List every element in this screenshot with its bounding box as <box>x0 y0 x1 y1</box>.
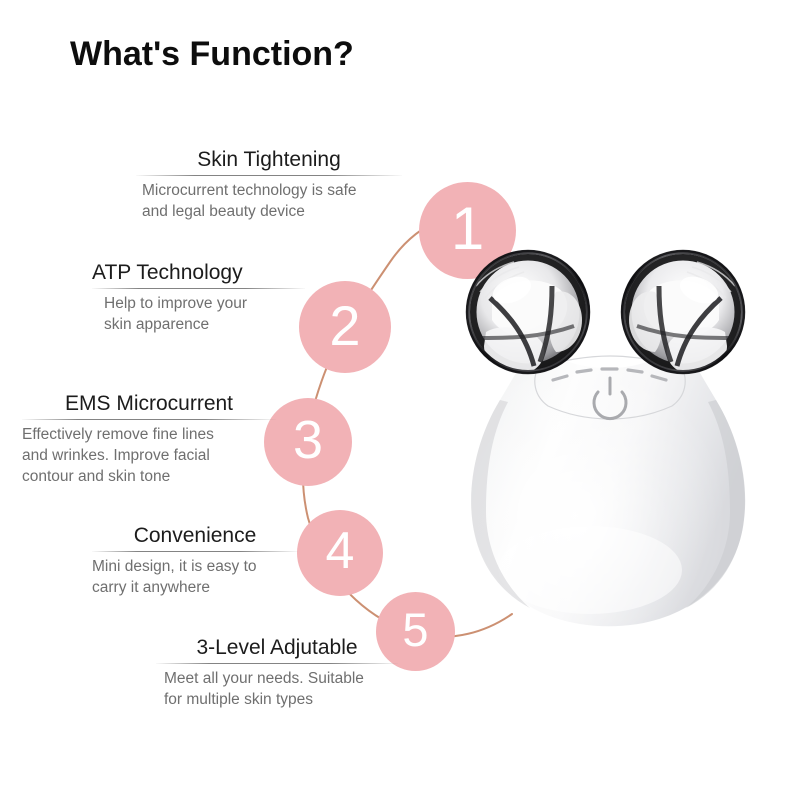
feature-block-convenience: Convenience Mini design, it is easy to c… <box>92 524 298 599</box>
feature-block-atp-technology: ATP Technology Help to improve your skin… <box>92 261 305 336</box>
feature-body-1: Microcurrent technology is safe and lega… <box>136 181 402 223</box>
page-title: What's Function? <box>70 35 354 74</box>
feature-number-5-label: 5 <box>402 602 428 657</box>
feature-divider-5 <box>156 663 398 664</box>
feature-number-4-label: 4 <box>326 521 355 581</box>
feature-block-ems-microcurrent: EMS Microcurrent Effectively remove fine… <box>22 392 276 488</box>
feature-divider-4 <box>92 551 298 552</box>
feature-divider-2 <box>92 288 305 289</box>
feature-number-4[interactable]: 4 <box>297 510 383 596</box>
feature-number-3[interactable]: 3 <box>264 398 352 486</box>
feature-body-5: Meet all your needs. Suitable for multip… <box>156 669 398 711</box>
chrome-roller-right <box>621 250 745 375</box>
feature-number-2-label: 2 <box>329 293 360 358</box>
chrome-roller-left <box>466 250 590 375</box>
device-body <box>471 335 745 626</box>
feature-heading-5: 3-Level Adjutable <box>156 636 398 660</box>
feature-divider-3 <box>22 419 276 420</box>
feature-block-skin-tightening: Skin Tightening Microcurrent technology … <box>136 148 402 223</box>
feature-body-3: Effectively remove fine lines and wrinke… <box>22 425 276 488</box>
feature-heading-4: Convenience <box>92 524 298 548</box>
feature-block-3-level-adjutable: 3-Level Adjutable Meet all your needs. S… <box>156 636 398 711</box>
feature-heading-1: Skin Tightening <box>136 148 402 172</box>
feature-divider-1 <box>136 175 402 176</box>
feature-body-4: Mini design, it is easy to carry it anyw… <box>92 557 298 599</box>
feature-number-3-label: 3 <box>293 409 323 471</box>
infographic-page: What's Function? 1 2 3 4 5 Skin Tighteni… <box>0 0 800 800</box>
feature-heading-3: EMS Microcurrent <box>22 392 276 416</box>
feature-number-2[interactable]: 2 <box>299 281 391 373</box>
product-device-image <box>440 240 780 640</box>
feature-body-2: Help to improve your skin apparence <box>92 294 305 336</box>
feature-heading-2: ATP Technology <box>92 261 305 285</box>
